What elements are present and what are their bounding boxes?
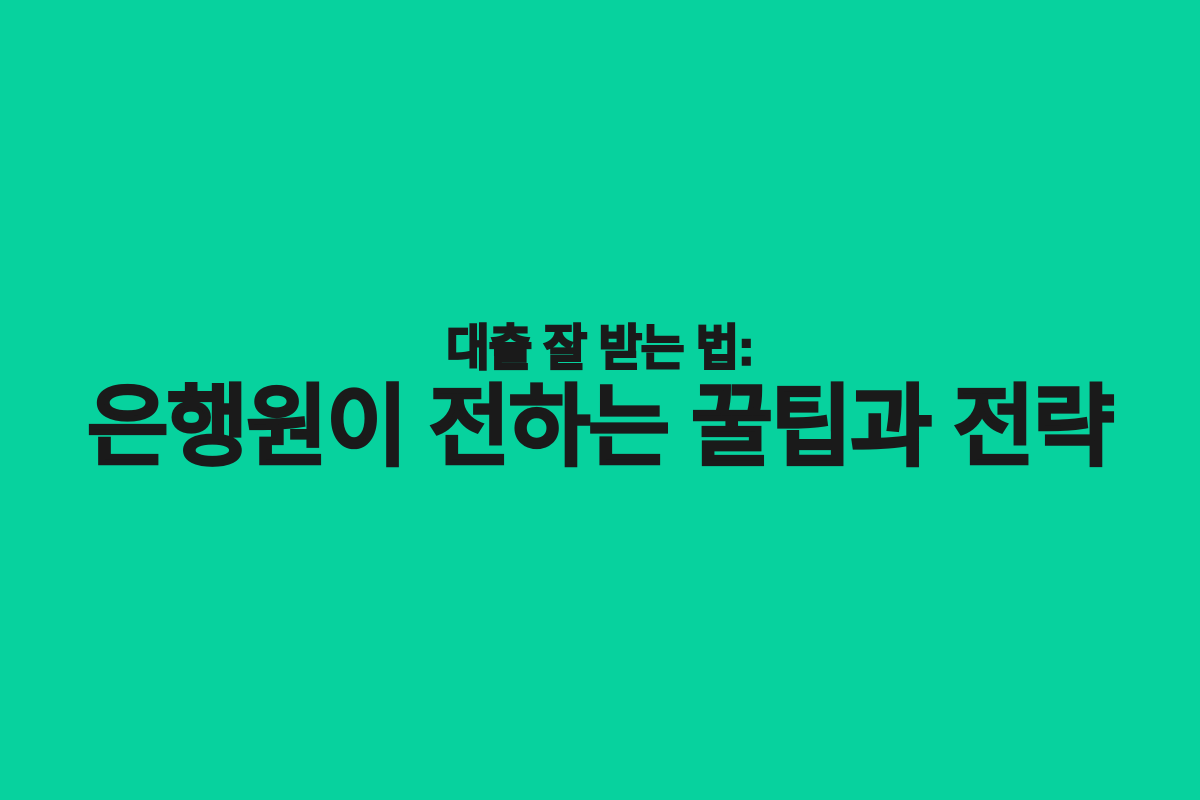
page-title: 대출 잘 받는 법: 은행원이 전하는 꿀팁과 전략 [0,322,1200,477]
title-line-2: 은행원이 전하는 꿀팁과 전략 [12,378,1188,477]
title-line-1: 대출 잘 받는 법: [30,322,1171,376]
thumbnail-canvas: 대출 잘 받는 법: 은행원이 전하는 꿀팁과 전략 [0,0,1200,800]
